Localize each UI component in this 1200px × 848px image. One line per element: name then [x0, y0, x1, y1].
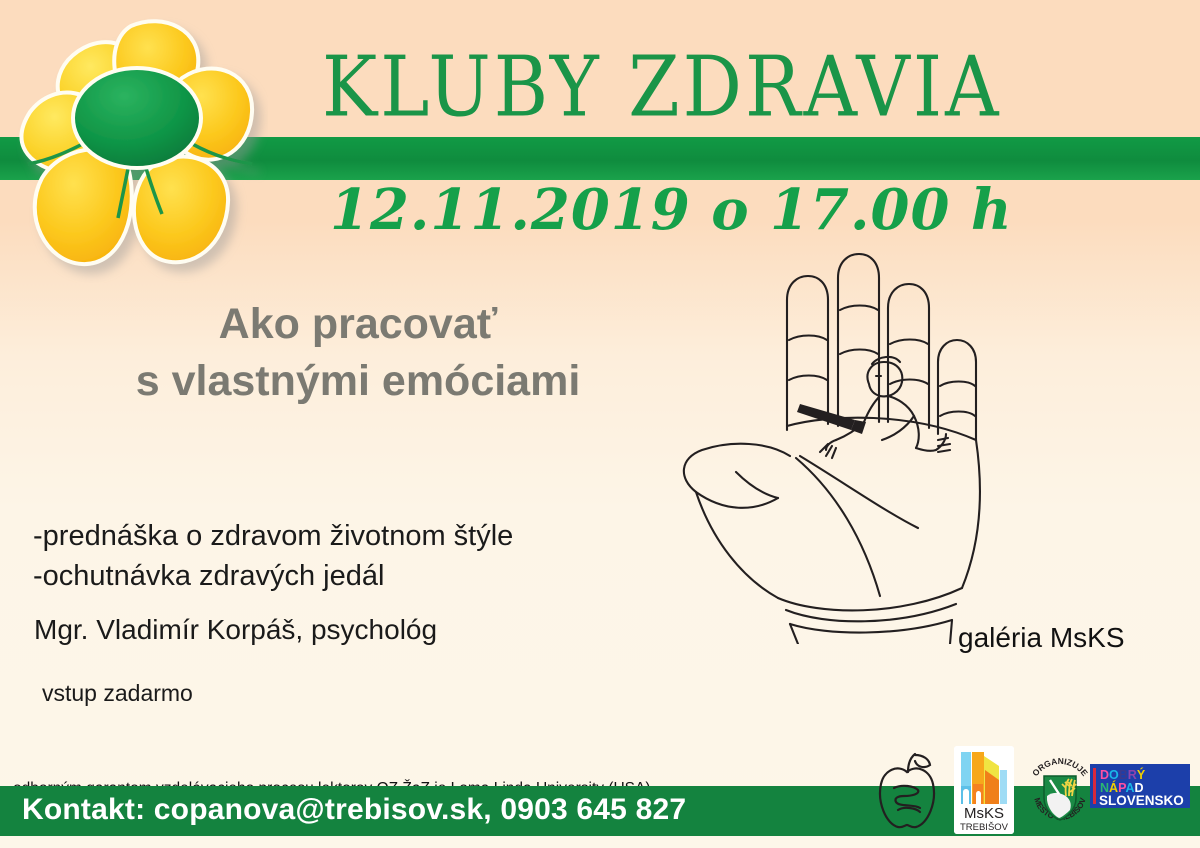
event-datetime: 12.11.2019 o 17.00 h: [330, 182, 1013, 238]
poster-title: KLUBY ZDRAVIA: [322, 46, 1022, 129]
zaz-apple-logo: [874, 752, 940, 832]
headline-line-1: Ako pracovať: [28, 296, 688, 353]
open-hand-icon: [650, 244, 1050, 644]
svg-text:MsKS: MsKS: [964, 805, 1004, 822]
poster-canvas: KLUBY ZDRAVIA 12.11.2019 o 17.00 h Ako p…: [0, 0, 1200, 848]
msks-trebisov-logo: MsKS TREBIŠOV: [954, 746, 1014, 834]
bullet-item: -prednáška o zdravom životnom štýle: [33, 516, 513, 556]
lecturer-name: Mgr. Vladimír Korpáš, psychológ: [34, 614, 437, 646]
flower-icon: [6, 8, 268, 283]
mesto-trebisov-seal: ORGANIZUJE MESTO TREBIŠOV: [1020, 748, 1100, 832]
dobry-line-3: SLOVENSKO: [1099, 794, 1184, 808]
svg-text:ORGANIZUJE: ORGANIZUJE: [1030, 756, 1090, 778]
dobry-line-1: DOBRÝ: [1100, 769, 1145, 782]
dobry-napad-slovensko-logo: DOBRÝ NÁPAD SLOVENSKO: [1090, 764, 1190, 808]
drawing-tool-icon: [797, 404, 866, 434]
logo-accent-bar: [1093, 768, 1096, 804]
program-bullets: -prednáška o zdravom životnom štýle -och…: [33, 516, 513, 596]
bullet-item: -ochutnávka zdravých jedál: [33, 556, 513, 596]
headline-line-2: s vlastnými emóciami: [28, 353, 688, 410]
kneeling-figure-icon: [820, 357, 950, 458]
contact-text: Kontakt: copanova@trebisov.sk, 0903 645 …: [22, 793, 686, 827]
venue-label: galéria MsKS: [958, 622, 1125, 654]
entry-fee: vstup zadarmo: [42, 680, 193, 707]
event-headline: Ako pracovať s vlastnými emóciami: [28, 296, 688, 410]
logo-row: MsKS TREBIŠOV ORGANIZUJE MESTO TREBIŠOV: [872, 746, 1192, 838]
svg-text:TREBIŠOV: TREBIŠOV: [960, 822, 1009, 833]
